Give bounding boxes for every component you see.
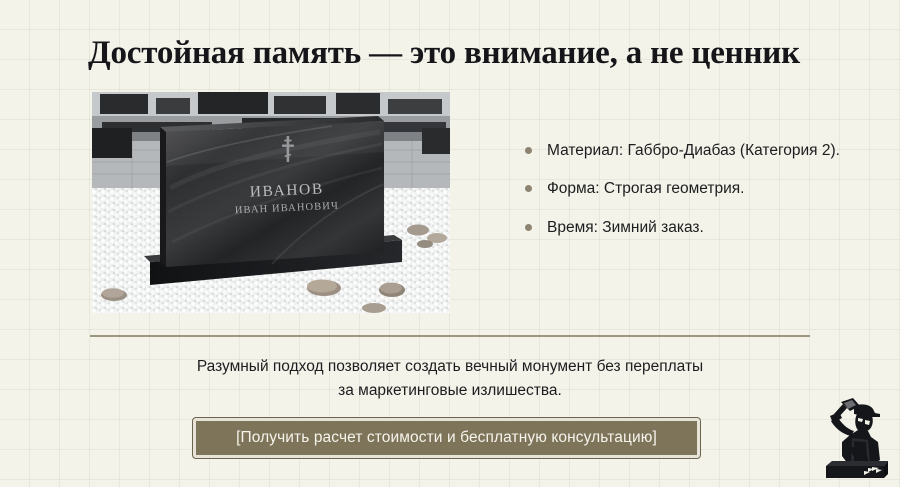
list-item-label: Время: Зимний заказ.: [547, 219, 704, 236]
list-item: Материал: Габбро-Диабаз (Категория 2).: [521, 140, 841, 161]
caption-line-1: Разумный подход позволяет создать вечный…: [90, 355, 810, 379]
svg-text:ИВАНОВ: ИВАНОВ: [249, 180, 324, 200]
list-item: Форма: Строгая геометрия.: [521, 178, 841, 199]
bullet-icon: [525, 224, 532, 231]
section-divider: [90, 335, 810, 337]
summary-caption: Разумный подход позволяет создать вечный…: [90, 355, 810, 402]
caption-line-2: за маркетинговые излишества.: [90, 379, 810, 403]
list-item-label: Форма: Строгая геометрия.: [547, 180, 744, 197]
page-title: Достойная память — это внимание, а не це…: [88, 33, 828, 73]
list-item: Время: Зимний заказ.: [521, 217, 841, 238]
list-item-label: Материал: Габбро-Диабаз (Категория 2).: [547, 142, 840, 159]
specs-list: Материал: Габбро-Диабаз (Категория 2). Ф…: [521, 140, 841, 238]
monument-photo: ИВАНОВ ИВАН ИВАНОВИЧ: [92, 92, 450, 313]
cta-button[interactable]: [Получить расчет стоимости и бесплатную …: [193, 418, 700, 458]
bullet-icon: [525, 185, 532, 192]
slide-root: Достойная память — это внимание, а не це…: [0, 0, 900, 487]
bullet-icon: [525, 147, 532, 154]
stonemason-logo: [808, 398, 892, 480]
